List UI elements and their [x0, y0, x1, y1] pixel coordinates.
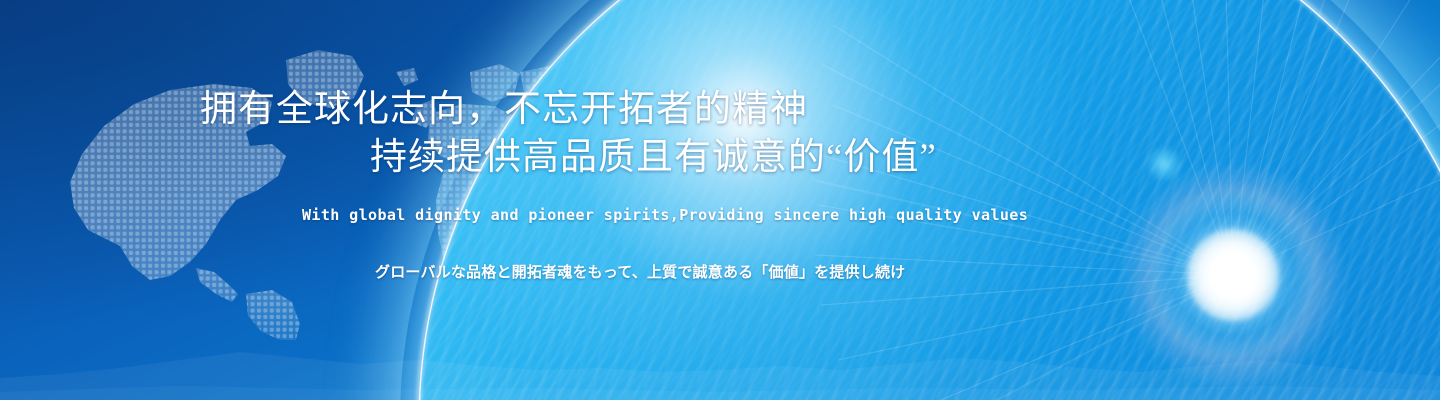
subtitle-japanese: グローバルな品格と開拓者魂をもって、上質で誠意ある「価値」を提供し続け: [375, 261, 905, 282]
planet-surface-texture: [420, 0, 1440, 400]
sun-flare-halo-ring: [1123, 165, 1343, 385]
subtitle-english: With global dignity and pioneer spirits,…: [302, 206, 1028, 224]
corner-vignette: [0, 0, 760, 330]
planet-limb: [420, 0, 1440, 400]
hero-banner: 拥有全球化志向，不忘开拓者的精神 持续提供高品质且有诚意的“价值” With g…: [0, 0, 1440, 400]
planet-atmosphere-glow: [400, 0, 1440, 400]
headline: 拥有全球化志向，不忘开拓者的精神 持续提供高品质且有诚意的“价值”: [200, 86, 937, 182]
copy-block: 拥有全球化志向，不忘开拓者的精神 持续提供高品质且有诚意的“价值” With g…: [0, 0, 1440, 400]
headline-line-2: 持续提供高品质且有诚意的“价值”: [200, 134, 937, 182]
headline-line-1: 拥有全球化志向，不忘开拓者的精神: [200, 89, 808, 130]
horizon-hills: [0, 330, 1440, 400]
planet-rim: [417, 0, 1440, 400]
dotted-world-map: [0, 0, 960, 340]
lens-flare-orb: [1148, 148, 1180, 180]
